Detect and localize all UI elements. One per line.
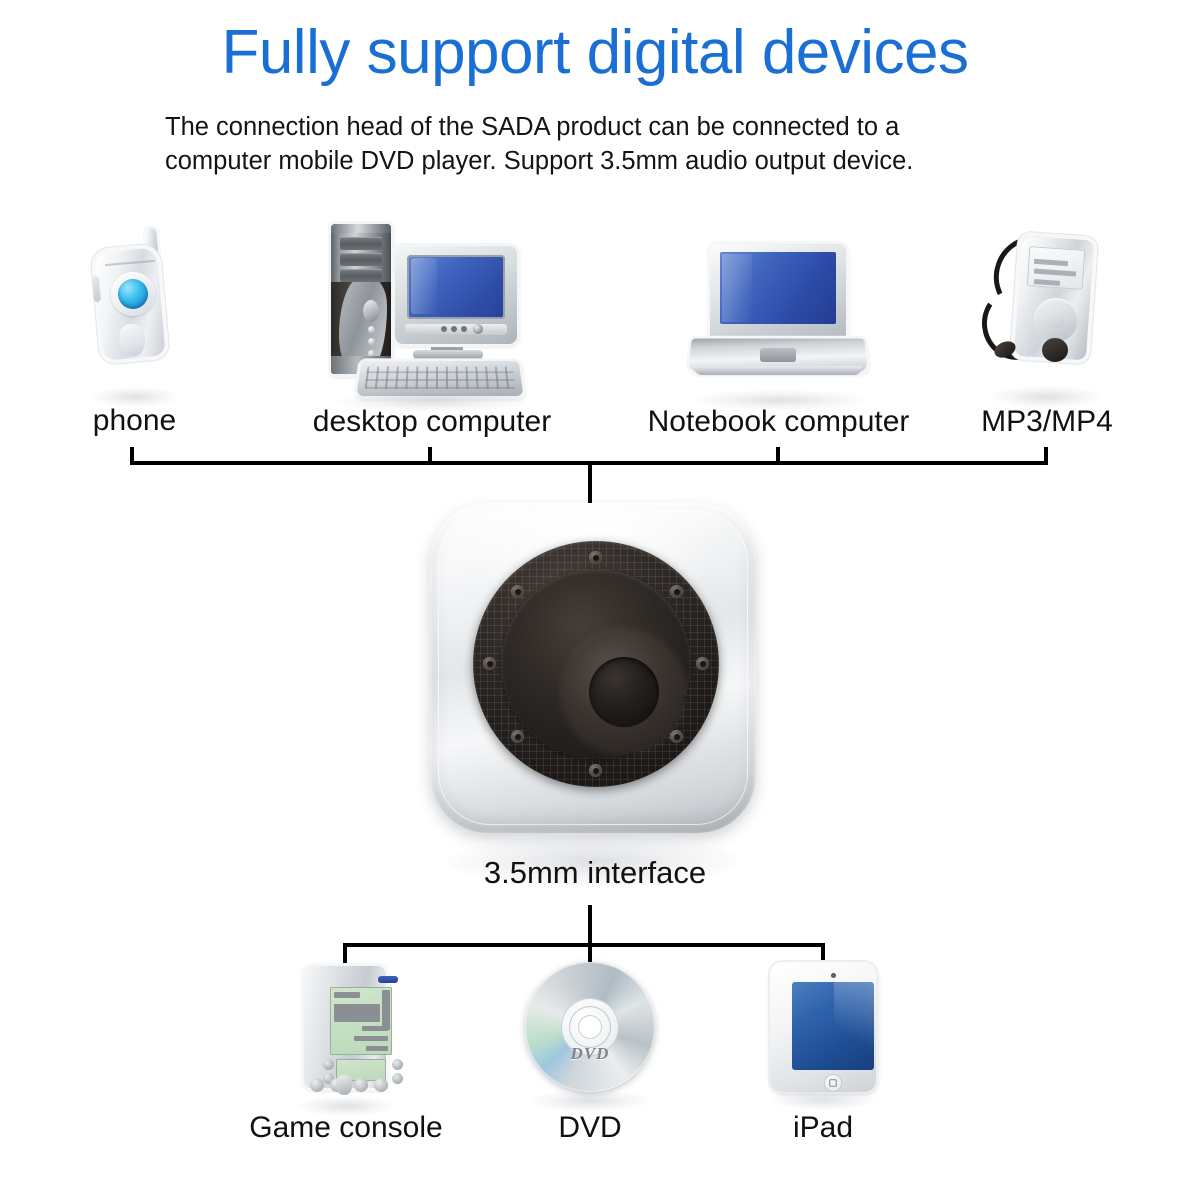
tower-drive-bay (340, 237, 382, 250)
screen-content-block (334, 992, 360, 998)
speaker-cone-inner (563, 631, 685, 753)
desktop-computer-icon (325, 214, 540, 404)
speaker-bolt (511, 585, 524, 598)
console-reflection (297, 1096, 395, 1116)
mobile-phone-icon (85, 228, 185, 403)
laptop-front-edge (694, 366, 862, 375)
speaker-bolt (670, 585, 683, 598)
device-cell-phone: phone (52, 228, 217, 439)
console-side-button (392, 1059, 403, 1070)
speaker-driver (473, 541, 719, 787)
device-label-ipad: iPad (748, 1110, 898, 1146)
console-dpad (336, 1075, 352, 1095)
screen-content-block (366, 1046, 388, 1051)
infographic-canvas: Fully support digital devices The connec… (0, 0, 1190, 1190)
dvd-disc (525, 962, 655, 1092)
speaker-bolt (589, 551, 602, 564)
speaker-bolt (696, 657, 709, 670)
handheld-console-icon (288, 958, 404, 1110)
console-action-button (354, 1078, 368, 1092)
console-side-button (323, 1059, 334, 1070)
tower-drive-bay (340, 253, 382, 266)
product-caption: 3.5mm interface (0, 855, 1190, 891)
tower-power-oval (363, 300, 379, 322)
keyboard-keys (364, 367, 515, 389)
phone-lens (116, 278, 149, 311)
phone-side-keys (91, 276, 100, 303)
subtitle-line-2: computer mobile DVD player. Support 3.5m… (165, 144, 1065, 178)
phone-reflection (92, 387, 178, 407)
tablet-screen (792, 982, 874, 1070)
laptop-trackpad (760, 348, 796, 362)
speaker-bolt (483, 657, 496, 670)
device-label-mp3: MP3/MP4 (958, 404, 1136, 440)
console-side-button (392, 1073, 403, 1084)
screen-gloss (411, 258, 437, 314)
laptop-reflection (693, 390, 865, 410)
device-cell-notebook: Notebook computer (616, 240, 941, 440)
device-label-phone: phone (52, 403, 217, 439)
speaker-housing (430, 503, 756, 833)
computer-tower (331, 224, 391, 374)
screen-content-block (334, 1004, 380, 1022)
device-label-dvd: DVD (519, 1110, 661, 1146)
monitor-power-led (473, 324, 483, 334)
speaker-mesh-grille (473, 541, 719, 787)
mp3-player-icon (972, 222, 1122, 404)
speaker-bolt (511, 730, 524, 743)
device-cell-mp3: MP3/MP4 (958, 222, 1136, 440)
earbud (1042, 338, 1068, 362)
device-cell-ipad: iPad (748, 958, 898, 1146)
product-speaker (430, 503, 756, 833)
console-action-button (374, 1078, 388, 1092)
crt-monitor (395, 246, 517, 344)
device-cell-dvd: DVD DVD (519, 958, 661, 1146)
dvd-logo-text: DVD (519, 1044, 661, 1064)
tablet-reflection (771, 1090, 875, 1110)
page-title: Fully support digital devices (0, 18, 1190, 88)
laptop-lid (710, 244, 846, 340)
laptop-icon (688, 240, 870, 404)
speaker-bolt (589, 764, 602, 777)
console-body (304, 966, 386, 1088)
dvd-disc-icon: DVD (519, 958, 661, 1110)
console-action-button (310, 1078, 324, 1092)
subtitle-line-1: The connection head of the SADA product … (165, 110, 1065, 144)
desktop-reflection (337, 390, 527, 412)
screen-gloss (834, 982, 874, 1070)
monitor-knob (441, 326, 447, 332)
tower-top (331, 224, 391, 233)
speaker-dome (589, 657, 659, 727)
front-camera-icon (831, 973, 836, 978)
disc-hub-hole (578, 1015, 602, 1039)
screen-content-block (382, 990, 390, 1030)
tablet-icon (760, 958, 886, 1110)
laptop-screen (720, 252, 836, 324)
screen-gloss (722, 254, 752, 322)
console-top-strip (378, 976, 398, 983)
screen-content-block (354, 1036, 388, 1041)
page-subtitle: The connection head of the SADA product … (165, 110, 1065, 178)
device-cell-desktop: desktop computer (288, 214, 576, 440)
mp3-reflection (991, 386, 1103, 408)
tower-drive-bay (340, 269, 382, 282)
dvd-reflection (530, 1090, 650, 1112)
monitor-base (413, 350, 483, 359)
monitor-knob (461, 326, 467, 332)
device-cell-game-console: Game console (218, 958, 474, 1146)
tower-led (368, 338, 375, 345)
monitor-knob (451, 326, 457, 332)
speaker-cone-outer (501, 569, 691, 759)
tablet-body (770, 962, 876, 1092)
speaker-bolt (670, 730, 683, 743)
monitor-screen (407, 255, 505, 319)
tower-led (368, 326, 375, 333)
